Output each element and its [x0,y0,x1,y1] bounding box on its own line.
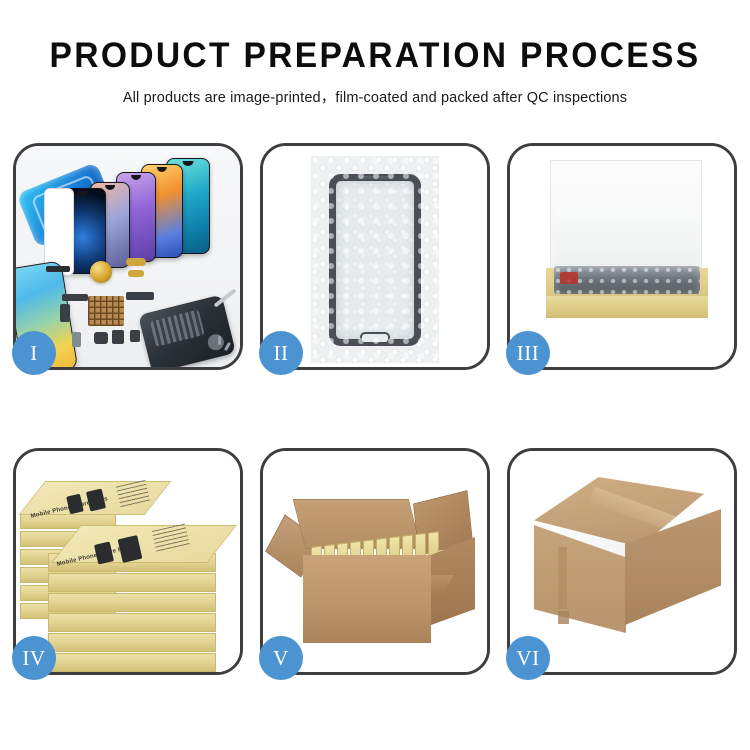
step-badge-5: V [259,636,303,680]
stack-box-fr-4 [48,613,216,632]
stack-box-fr-2 [48,573,216,592]
step-3-image [510,146,734,367]
process-step-2: II [260,143,490,370]
step-6-image [510,451,734,672]
wrapped-screen-icon [554,266,700,294]
box-foam-icon [556,204,696,270]
chip-array-icon [88,296,124,326]
process-step-3: III [507,143,737,370]
process-step-4: Mobile Phone Spare Parts Mobile Phone Sp… [13,448,243,675]
step-badge-1: I [12,331,56,375]
process-step-5: V [260,448,490,675]
kraft-box-stack-icon: Mobile Phone Spare Parts Mobile Phone Sp… [18,469,240,664]
bubble-wrap-icon [311,156,439,363]
screw-icon [218,336,221,345]
header: PRODUCT PREPARATION PROCESS All products… [0,0,750,107]
page-subtitle: All products are image-printed，film-coat… [0,86,750,107]
carton-seam-2-icon [558,611,569,624]
flex-connector-icon [126,258,146,266]
stack-box-fr-6 [48,653,216,672]
step-badge-2: II [259,331,303,375]
step-4-image: Mobile Phone Spare Parts Mobile Phone Sp… [16,451,240,672]
stack-box-fr-5 [48,633,216,652]
process-step-1: I [13,143,243,370]
ribbon-cable-3-icon [126,292,154,300]
sim-tray-icon [72,332,81,347]
page-title: PRODUCT PREPARATION PROCESS [15,36,735,76]
step-badge-3: III [506,331,550,375]
step-badge-4: IV [12,636,56,680]
vibrator-motor-icon [112,330,124,344]
carton-seam-icon [558,547,567,609]
step-badge-6: VI [506,636,550,680]
speaker-mesh-icon [46,266,70,272]
phone-chassis-icon [138,294,236,367]
copper-coil-icon [90,261,112,283]
ribbon-cable-icon [62,294,88,301]
process-step-grid: I II [13,143,737,675]
carton-body-icon [303,555,431,643]
camera-module-icon [130,330,140,342]
wrap-shine [554,266,700,294]
flex-connector-2-icon [128,270,144,277]
battery-connector-icon [94,332,108,344]
step-5-image [263,451,487,672]
ribbon-cable-2-icon [60,304,70,322]
process-step-6: VI [507,448,737,675]
phone-screen-icon [329,174,421,346]
step-2-image [263,146,487,367]
step-1-image [16,146,240,367]
kraft-box-front-icon [546,296,708,318]
product-preparation-infographic: PRODUCT PREPARATION PROCESS All products… [0,0,750,750]
stack-box-fr-3 [48,593,216,612]
